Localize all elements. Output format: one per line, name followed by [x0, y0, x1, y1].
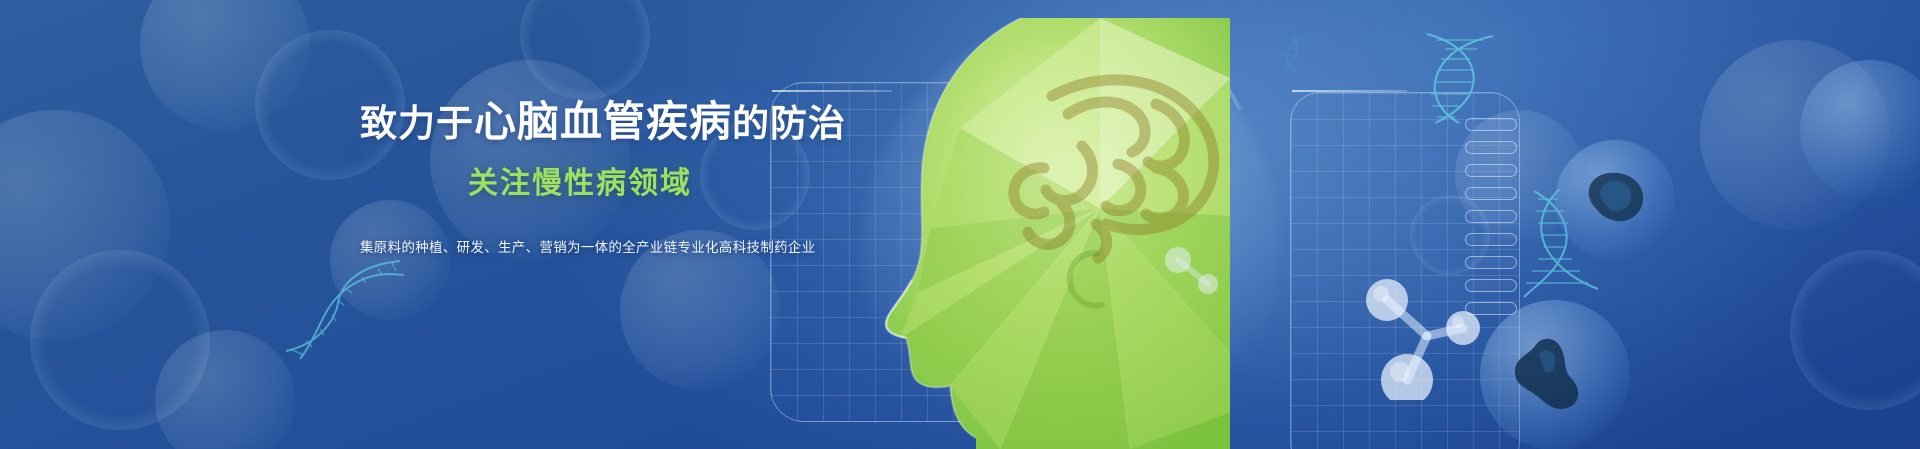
- pill-item: [1465, 256, 1517, 269]
- pill-item: [1465, 118, 1517, 131]
- pill-item: [1465, 187, 1517, 200]
- bokeh-circle: [155, 330, 295, 449]
- pill-item: [1465, 302, 1517, 315]
- dna-helix-left: [280, 255, 410, 365]
- hero-banner: 致力于心脑血管疾病的防治 关注慢性病领域 集原料的种植、研发、生产、营销为一体的…: [0, 0, 1920, 449]
- cell-nucleus-dark: [1575, 165, 1655, 235]
- tagline: 集原料的种植、研发、生产、营销为一体的全产业链专业化高科技制药企业: [360, 236, 800, 256]
- pill-item: [1465, 164, 1517, 177]
- head-graphic: [800, 18, 1420, 449]
- bokeh-circle: [1790, 250, 1920, 410]
- bokeh-circle: [520, 0, 650, 100]
- bokeh-circle: [1700, 40, 1890, 230]
- head-svg: [800, 18, 1420, 449]
- bokeh-circle: [140, 0, 310, 130]
- subline: 关注慢性病领域: [360, 158, 800, 202]
- banner-copy: 致力于心脑血管疾病的防治 关注慢性病领域 集原料的种植、研发、生产、营销为一体的…: [360, 96, 800, 256]
- bokeh-circle: [30, 250, 210, 430]
- headline-prefix: 致力于: [360, 103, 474, 144]
- headline: 致力于心脑血管疾病的防治: [360, 96, 800, 149]
- headline-accent: 心脑血管疾病: [474, 98, 732, 145]
- cell-nucleus-dark: [1505, 330, 1605, 425]
- pill-item: [1465, 279, 1517, 292]
- pill-item: [1465, 233, 1517, 246]
- pill-item: [1465, 141, 1517, 154]
- cell-sphere-edge: [1800, 60, 1920, 200]
- headline-suffix: 的防治: [732, 103, 846, 144]
- pill-item: [1465, 210, 1517, 223]
- bokeh-circle: [0, 110, 170, 340]
- pill-list-right: [1465, 118, 1517, 315]
